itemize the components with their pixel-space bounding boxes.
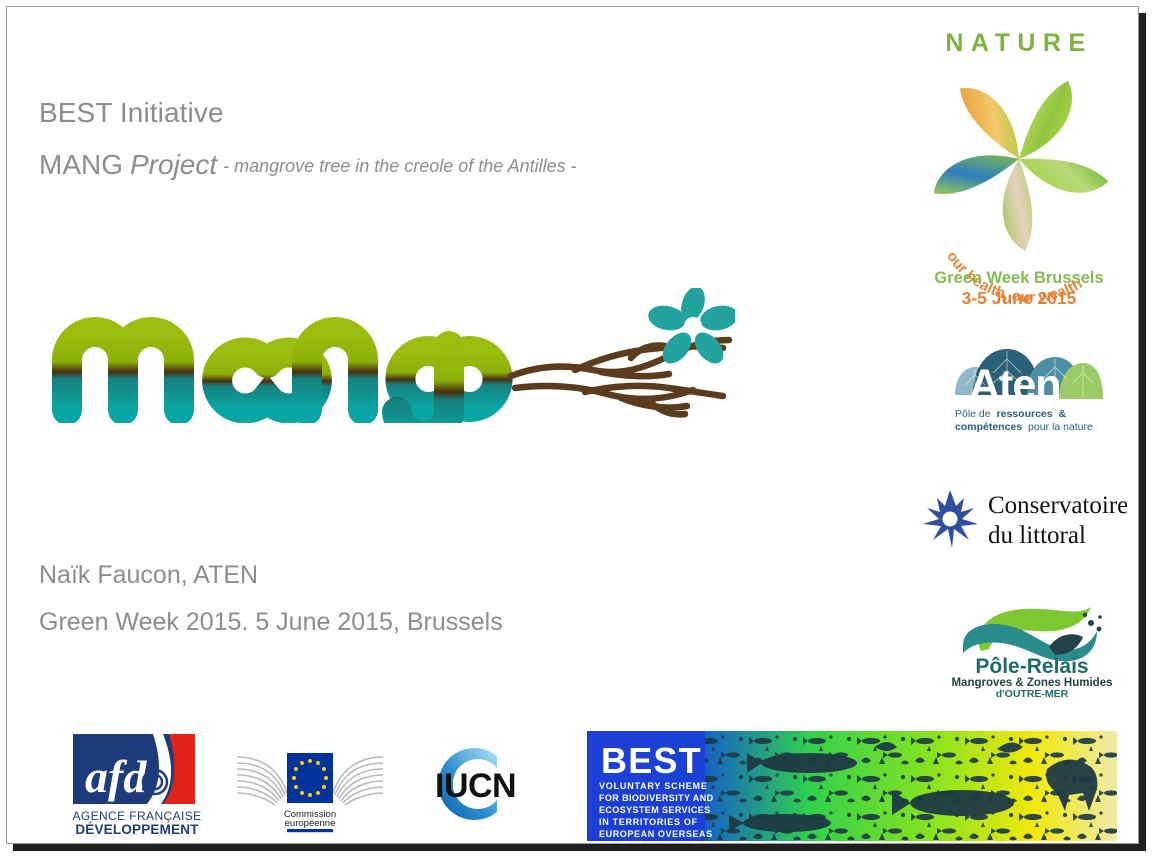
slide-surface: BEST Initiative MANGProject- mangrove tr… bbox=[6, 6, 1139, 844]
mang-wordmark bbox=[67, 332, 498, 423]
page-subtitle-project: Project bbox=[123, 149, 217, 180]
pole-relais-logo: Pôle-Relais Mangroves & Zones Humides d'… bbox=[945, 605, 1120, 697]
nature-wordmark: NATURE bbox=[945, 29, 1092, 57]
slide-root: BEST Initiative MANGProject- mangrove tr… bbox=[0, 0, 1155, 860]
conservatoire-line1: Conservatoire bbox=[988, 492, 1127, 519]
pole-relais-emblem-icon bbox=[963, 607, 1102, 661]
nature-pinwheel-icon bbox=[929, 75, 1110, 251]
page-subtitle-mang: MANG bbox=[39, 149, 123, 180]
author-name: Naïk Faucon, ATEN bbox=[39, 559, 679, 591]
author-event: Green Week 2015. 5 June 2015, Brussels bbox=[39, 606, 679, 638]
mang-logo bbox=[45, 288, 735, 423]
page-subtitle-translation: - mangrove tree in the creole of the Ant… bbox=[217, 156, 577, 176]
conservatoire-line2: du littoral bbox=[988, 522, 1086, 549]
best-banner-svg: BEST VOLUNTARY SCHEME FOR BIODIVERSITY A… bbox=[587, 731, 1117, 841]
nature-logo-svg: NATURE our health, our wealth Green Week… bbox=[912, 19, 1127, 319]
iucn-logo-svg: IUCN bbox=[405, 740, 525, 828]
page-title: BEST Initiative bbox=[39, 95, 739, 130]
iucn-logo: IUCN bbox=[405, 740, 525, 828]
page-subtitle: MANGProject- mangrove tree in the creole… bbox=[39, 147, 739, 182]
best-line1: VOLUNTARY SCHEME bbox=[599, 781, 708, 791]
ec-logo-svg: Commission européenne bbox=[235, 735, 385, 833]
iucn-wordmark: IUCN bbox=[435, 767, 516, 805]
ec-line2: européenne bbox=[285, 818, 336, 829]
afd-logo: afd AGENCE FRANÇAISE DÉVELOPPEMENT bbox=[67, 730, 207, 838]
conservatoire-logo-svg: Conservatoire du littoral bbox=[912, 485, 1127, 555]
aten-tagline-line1: Pôle de ressources & bbox=[955, 408, 1067, 420]
bottom-logo-strip: afd AGENCE FRANÇAISE DÉVELOPPEMENT bbox=[7, 725, 1139, 840]
pole-relais-line3: d'OUTRE-MER bbox=[996, 688, 1069, 697]
afd-wordmark: afd bbox=[85, 751, 147, 802]
mangrove-flower-icon bbox=[646, 288, 735, 369]
pole-relais-line1: Pôle-Relais bbox=[975, 655, 1088, 678]
best-line3: ECOSYSTEM SERVICES bbox=[599, 805, 711, 815]
afd-line1: AGENCE FRANÇAISE bbox=[72, 809, 201, 823]
aten-logo-svg: Aten Pôle de ressources & compétences po… bbox=[947, 337, 1107, 437]
aten-wordmark: Aten bbox=[969, 361, 1061, 409]
best-line5: EUROPEAN OVERSEAS bbox=[599, 829, 713, 839]
conservatoire-du-littoral-logo: Conservatoire du littoral bbox=[912, 485, 1127, 555]
afd-line2: DÉVELOPPEMENT bbox=[75, 822, 199, 837]
ec-swoosh-right-icon bbox=[333, 757, 383, 805]
afd-logo-svg: afd AGENCE FRANÇAISE DÉVELOPPEMENT bbox=[67, 730, 207, 838]
ec-swoosh-left-icon bbox=[237, 757, 287, 805]
best-banner: BEST VOLUNTARY SCHEME FOR BIODIVERSITY A… bbox=[587, 731, 1117, 841]
aten-tagline-line2: compétences pour la nature bbox=[955, 421, 1093, 433]
mangrove-branch-icon bbox=[511, 340, 729, 414]
conservatoire-emblem-icon bbox=[923, 490, 978, 548]
title-block: BEST Initiative MANGProject- mangrove tr… bbox=[39, 95, 739, 182]
mang-logo-svg bbox=[45, 288, 735, 423]
european-commission-logo: Commission européenne bbox=[235, 735, 385, 833]
aten-logo: Aten Pôle de ressources & compétences po… bbox=[947, 337, 1107, 437]
nature-green-week-logo: NATURE our health, our wealth Green Week… bbox=[912, 19, 1127, 319]
nature-event-line: Green Week Brussels bbox=[934, 269, 1103, 287]
pole-relais-logo-svg: Pôle-Relais Mangroves & Zones Humides d'… bbox=[945, 605, 1120, 697]
nature-date-line: 3-5 June 2015 bbox=[962, 288, 1077, 308]
author-block: Naïk Faucon, ATEN Green Week 2015. 5 Jun… bbox=[39, 559, 679, 638]
best-line2: FOR BIODIVERSITY AND bbox=[599, 793, 714, 803]
best-wordmark: BEST bbox=[601, 740, 702, 781]
best-line4: IN TERRITORIES OF bbox=[599, 817, 698, 827]
